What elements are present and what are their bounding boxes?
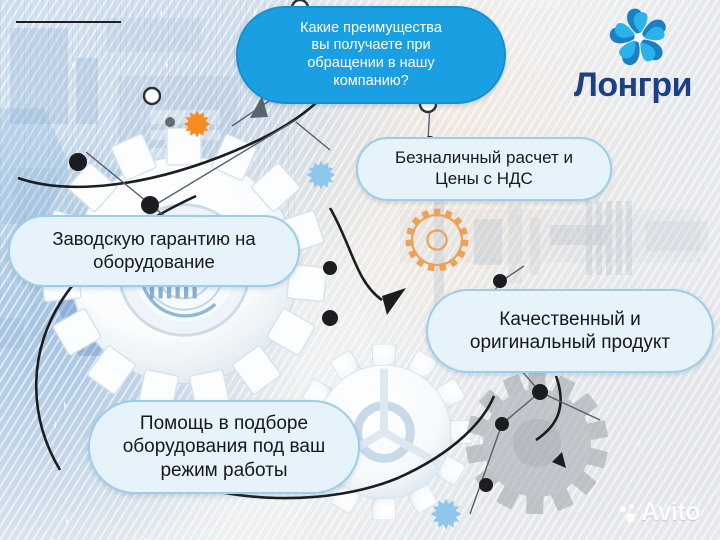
logo-text: Лонгри: [574, 66, 720, 105]
company-logo[interactable]: Лонгри: [574, 4, 720, 114]
light-blue-starburst-icon-1: [306, 160, 336, 190]
poster-canvas: Какие преимущества вы получаете при обра…: [0, 0, 720, 540]
bubble-equipment-help: Помощь в подборе оборудования под ваш ре…: [88, 400, 360, 494]
node-dot: [322, 310, 338, 326]
avito-dots-icon: [620, 504, 637, 522]
orange-starburst-icon: [183, 110, 211, 138]
bubble-quality-product: Качественный и оригинальный продукт: [426, 289, 714, 373]
arrow-right-icon: [382, 288, 406, 315]
node-dot: [495, 417, 509, 431]
node-dot: [323, 261, 337, 275]
node-ring: [144, 88, 160, 104]
node-dot: [479, 478, 493, 492]
bubble-question: Какие преимущества вы получаете при обра…: [236, 6, 506, 104]
light-blue-starburst-icon-2: [430, 498, 462, 530]
node-dot: [141, 196, 159, 214]
pinwheel-flower-icon: [602, 6, 676, 72]
node-dot: [532, 384, 548, 400]
node-dot: [69, 153, 87, 171]
node-dot: [493, 274, 507, 288]
bubble-cashless-payment: Безналичный расчет и Цены с НДС: [356, 137, 612, 201]
avito-watermark-text: Avito: [641, 498, 700, 527]
node-dot: [165, 117, 175, 127]
avito-watermark: Avito: [620, 498, 700, 527]
arrow-down-icon: [552, 452, 566, 468]
bubble-factory-warranty: Заводскую гарантию на оборудование: [8, 215, 300, 287]
top-horizontal-rule: [16, 21, 121, 23]
